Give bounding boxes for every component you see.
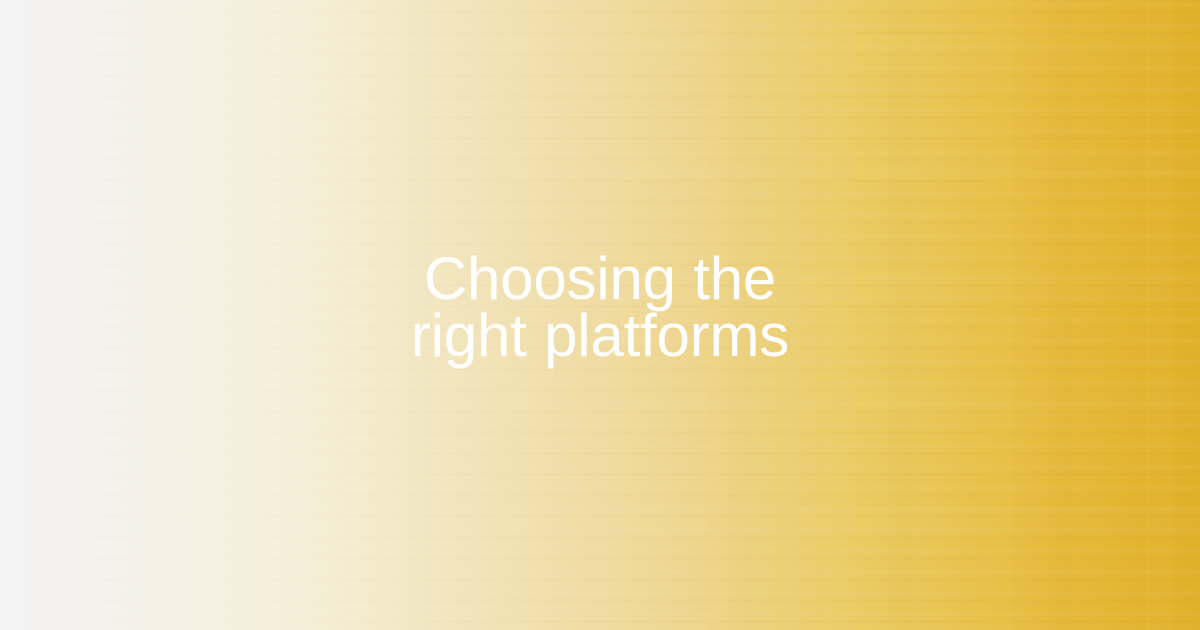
hero-banner: Choosing the right platforms	[0, 0, 1200, 630]
banner-headline: Choosing the right platforms	[365, 250, 835, 364]
